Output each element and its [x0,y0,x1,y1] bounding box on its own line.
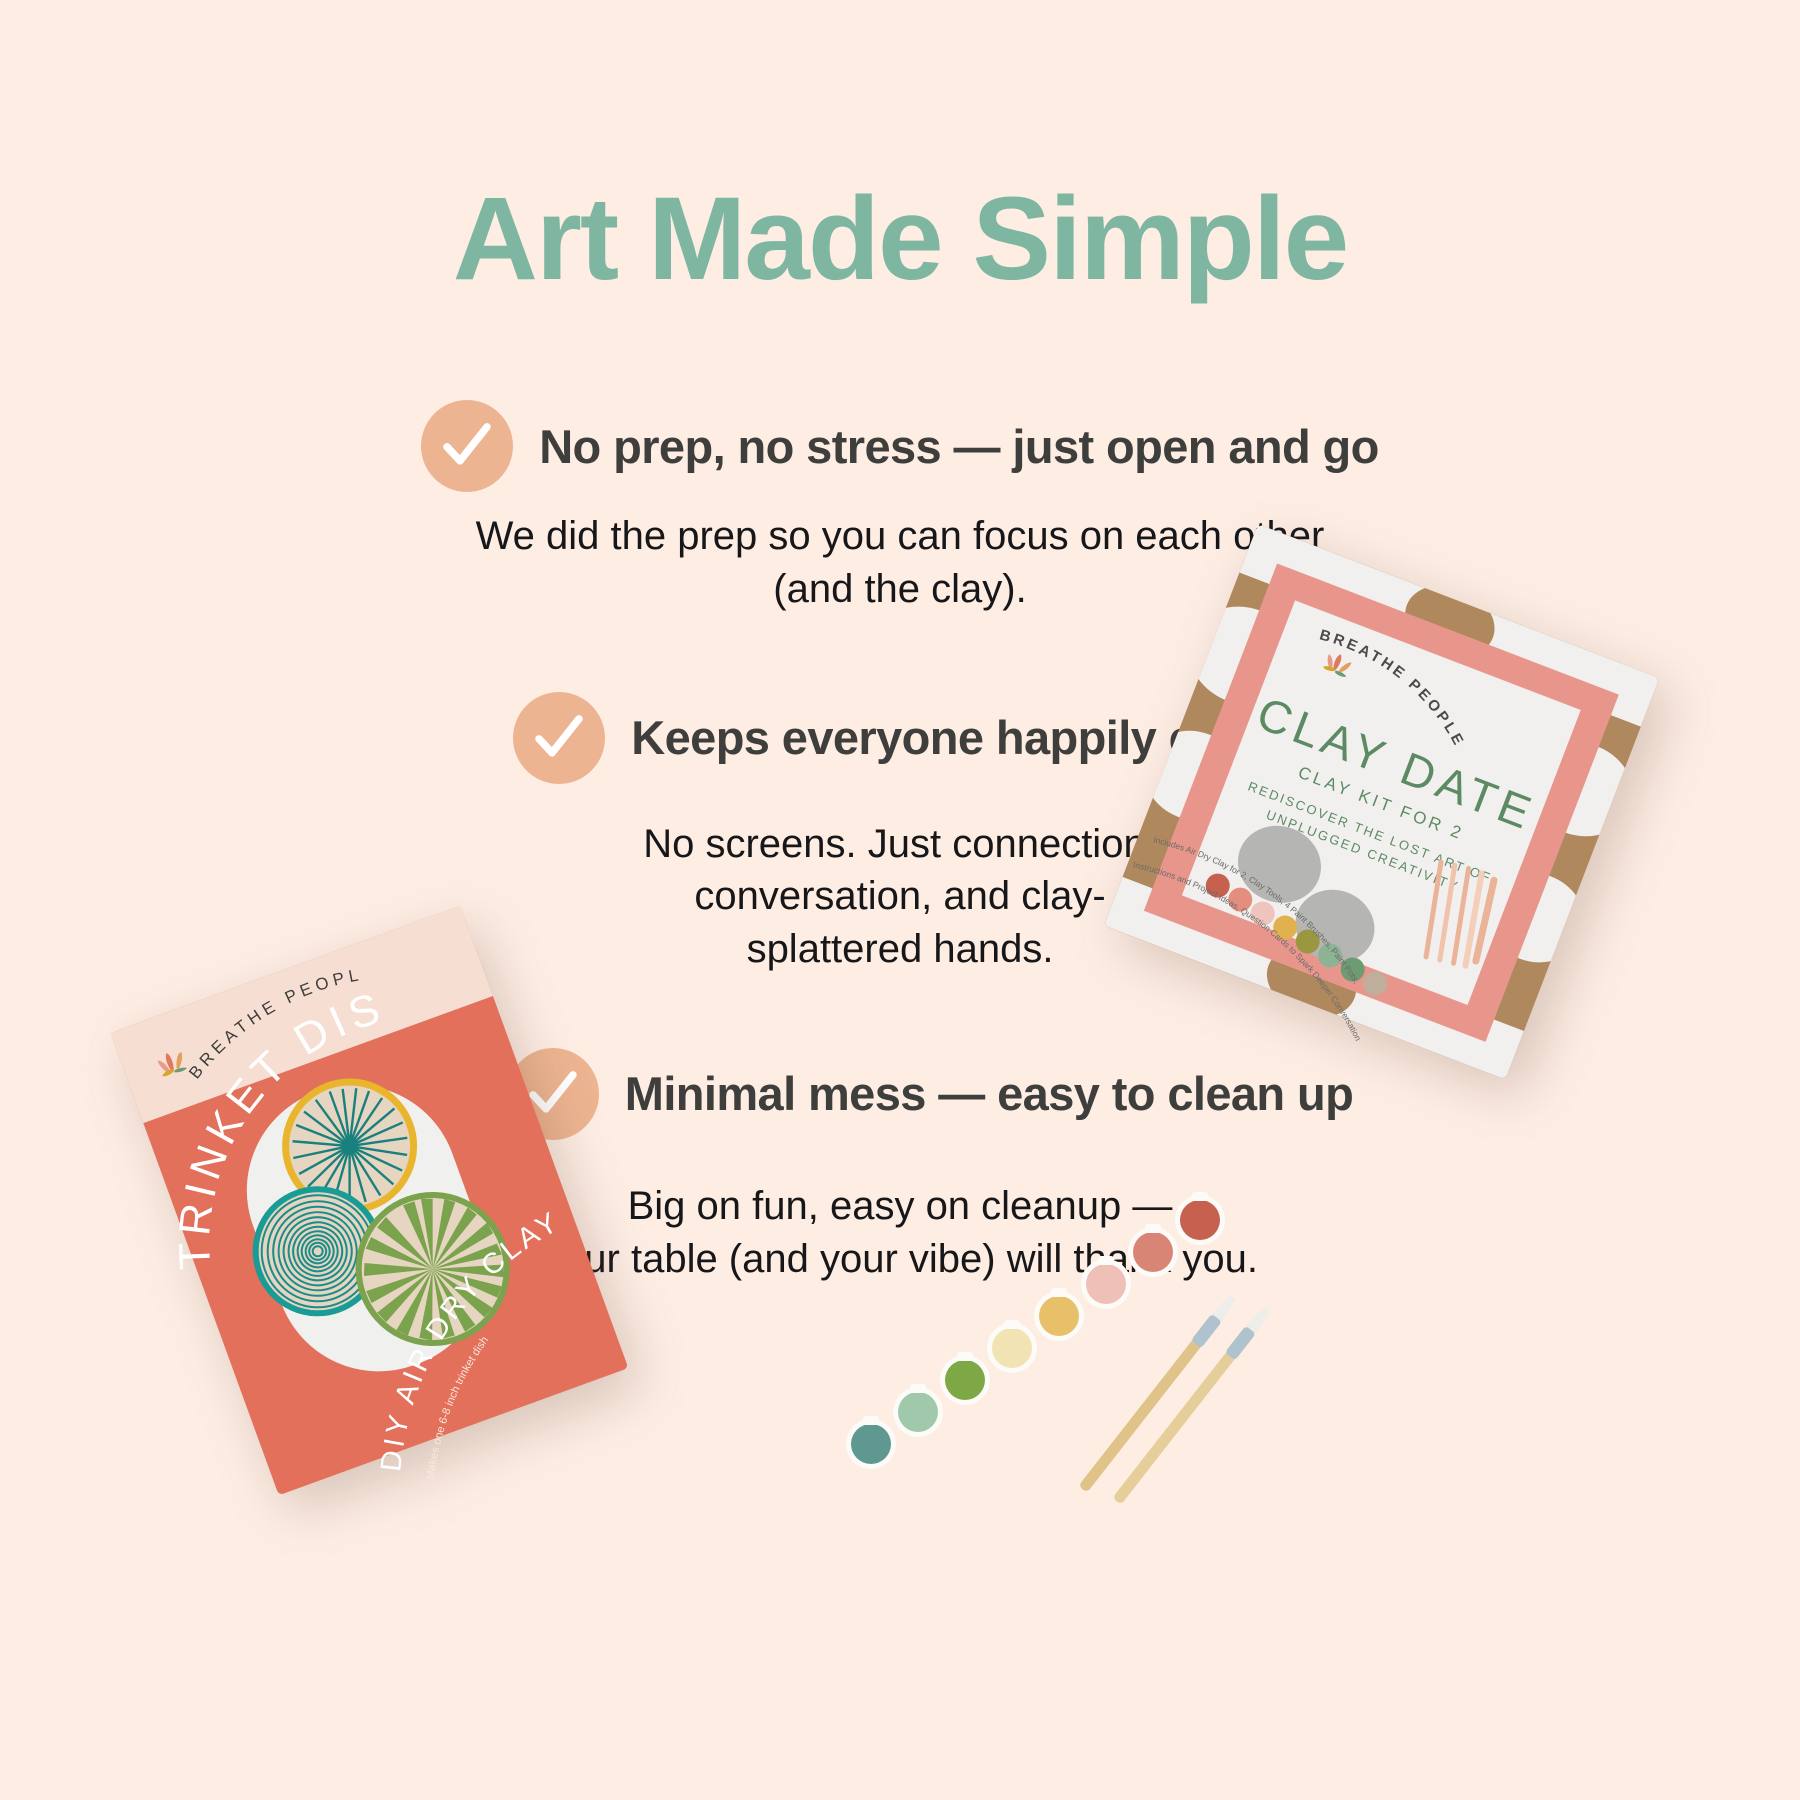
clay-date-box: BREATHE PEOPLE CLAY DATE CLAY KIT FOR 2 … [1190,500,1750,1060]
check-icon [421,400,513,492]
check-icon [513,692,605,784]
paint-brush [1111,1305,1271,1505]
paint-brushes [960,1290,1320,1620]
paint-pot [893,1384,943,1437]
benefit-3-title: Minimal mess — easy to clean up [625,1066,1353,1121]
paint-brush [1077,1293,1237,1493]
page-title: Art Made Simple [0,178,1800,302]
paint-pot [1128,1224,1178,1277]
paint-pot [846,1416,896,1469]
benefit-1-title: No prep, no stress — just open and go [539,419,1379,474]
benefit-1-header: No prep, no stress — just open and go [0,400,1800,492]
poster-canvas: Art Made Simple No prep, no stress — jus… [0,0,1800,1800]
trinket-dish-box: BREATHE PEOPLE TRINKET DISH [20,980,580,1600]
paint-pot [1175,1192,1225,1245]
